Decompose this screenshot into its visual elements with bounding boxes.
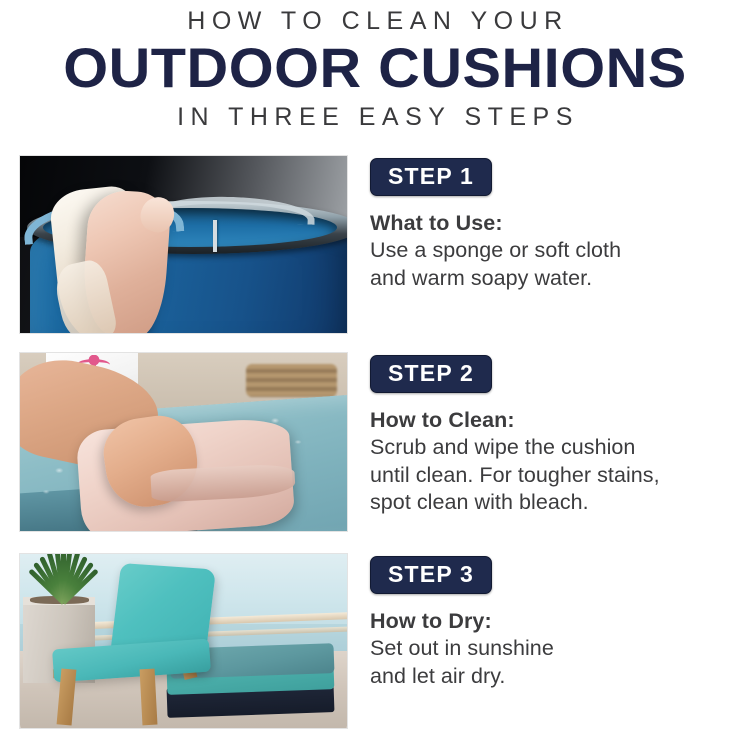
step-photo-lounge (19, 553, 348, 729)
step-photo-bucket (19, 155, 348, 334)
step-heading-3: How to Dry: (370, 608, 731, 635)
chaise-leg-mid (140, 668, 158, 724)
bucket-clip (213, 220, 217, 252)
step-heading-2: How to Clean: (370, 407, 731, 434)
step-heading-1: What to Use: (370, 210, 731, 237)
step-text-column: STEP 1 What to Use: Use a sponge or soft… (370, 155, 731, 292)
page-title: OUTDOOR CUSHIONS (0, 38, 750, 98)
step-badge-2: STEP 2 (370, 355, 492, 393)
header-line-1: HOW TO CLEAN YOUR (0, 6, 750, 36)
step-text-column: STEP 3 How to Dry: Set out in sunshine a… (370, 553, 731, 690)
step-text-column: STEP 2 How to Clean: Scrub and wipe the … (370, 352, 731, 517)
infographic-header: HOW TO CLEAN YOUR OUTDOOR CUSHIONS IN TH… (0, 0, 750, 132)
step-body-3: Set out in sunshine and let air dry. (370, 635, 731, 690)
step-badge-3: STEP 3 (370, 556, 492, 594)
agave-plant (31, 553, 90, 603)
step-row: STEP 1 What to Use: Use a sponge or soft… (19, 155, 731, 334)
step-row: STEP 2 How to Clean: Scrub and wipe the … (19, 352, 731, 532)
step-photo-scrubbing (19, 352, 348, 532)
step-badge-1: STEP 1 (370, 158, 492, 196)
step-body-1: Use a sponge or soft cloth and warm soap… (370, 237, 731, 292)
step-row: STEP 3 How to Dry: Set out in sunshine a… (19, 553, 731, 729)
step-body-2: Scrub and wipe the cushion until clean. … (370, 434, 731, 517)
header-line-3: IN THREE EASY STEPS (0, 102, 750, 132)
